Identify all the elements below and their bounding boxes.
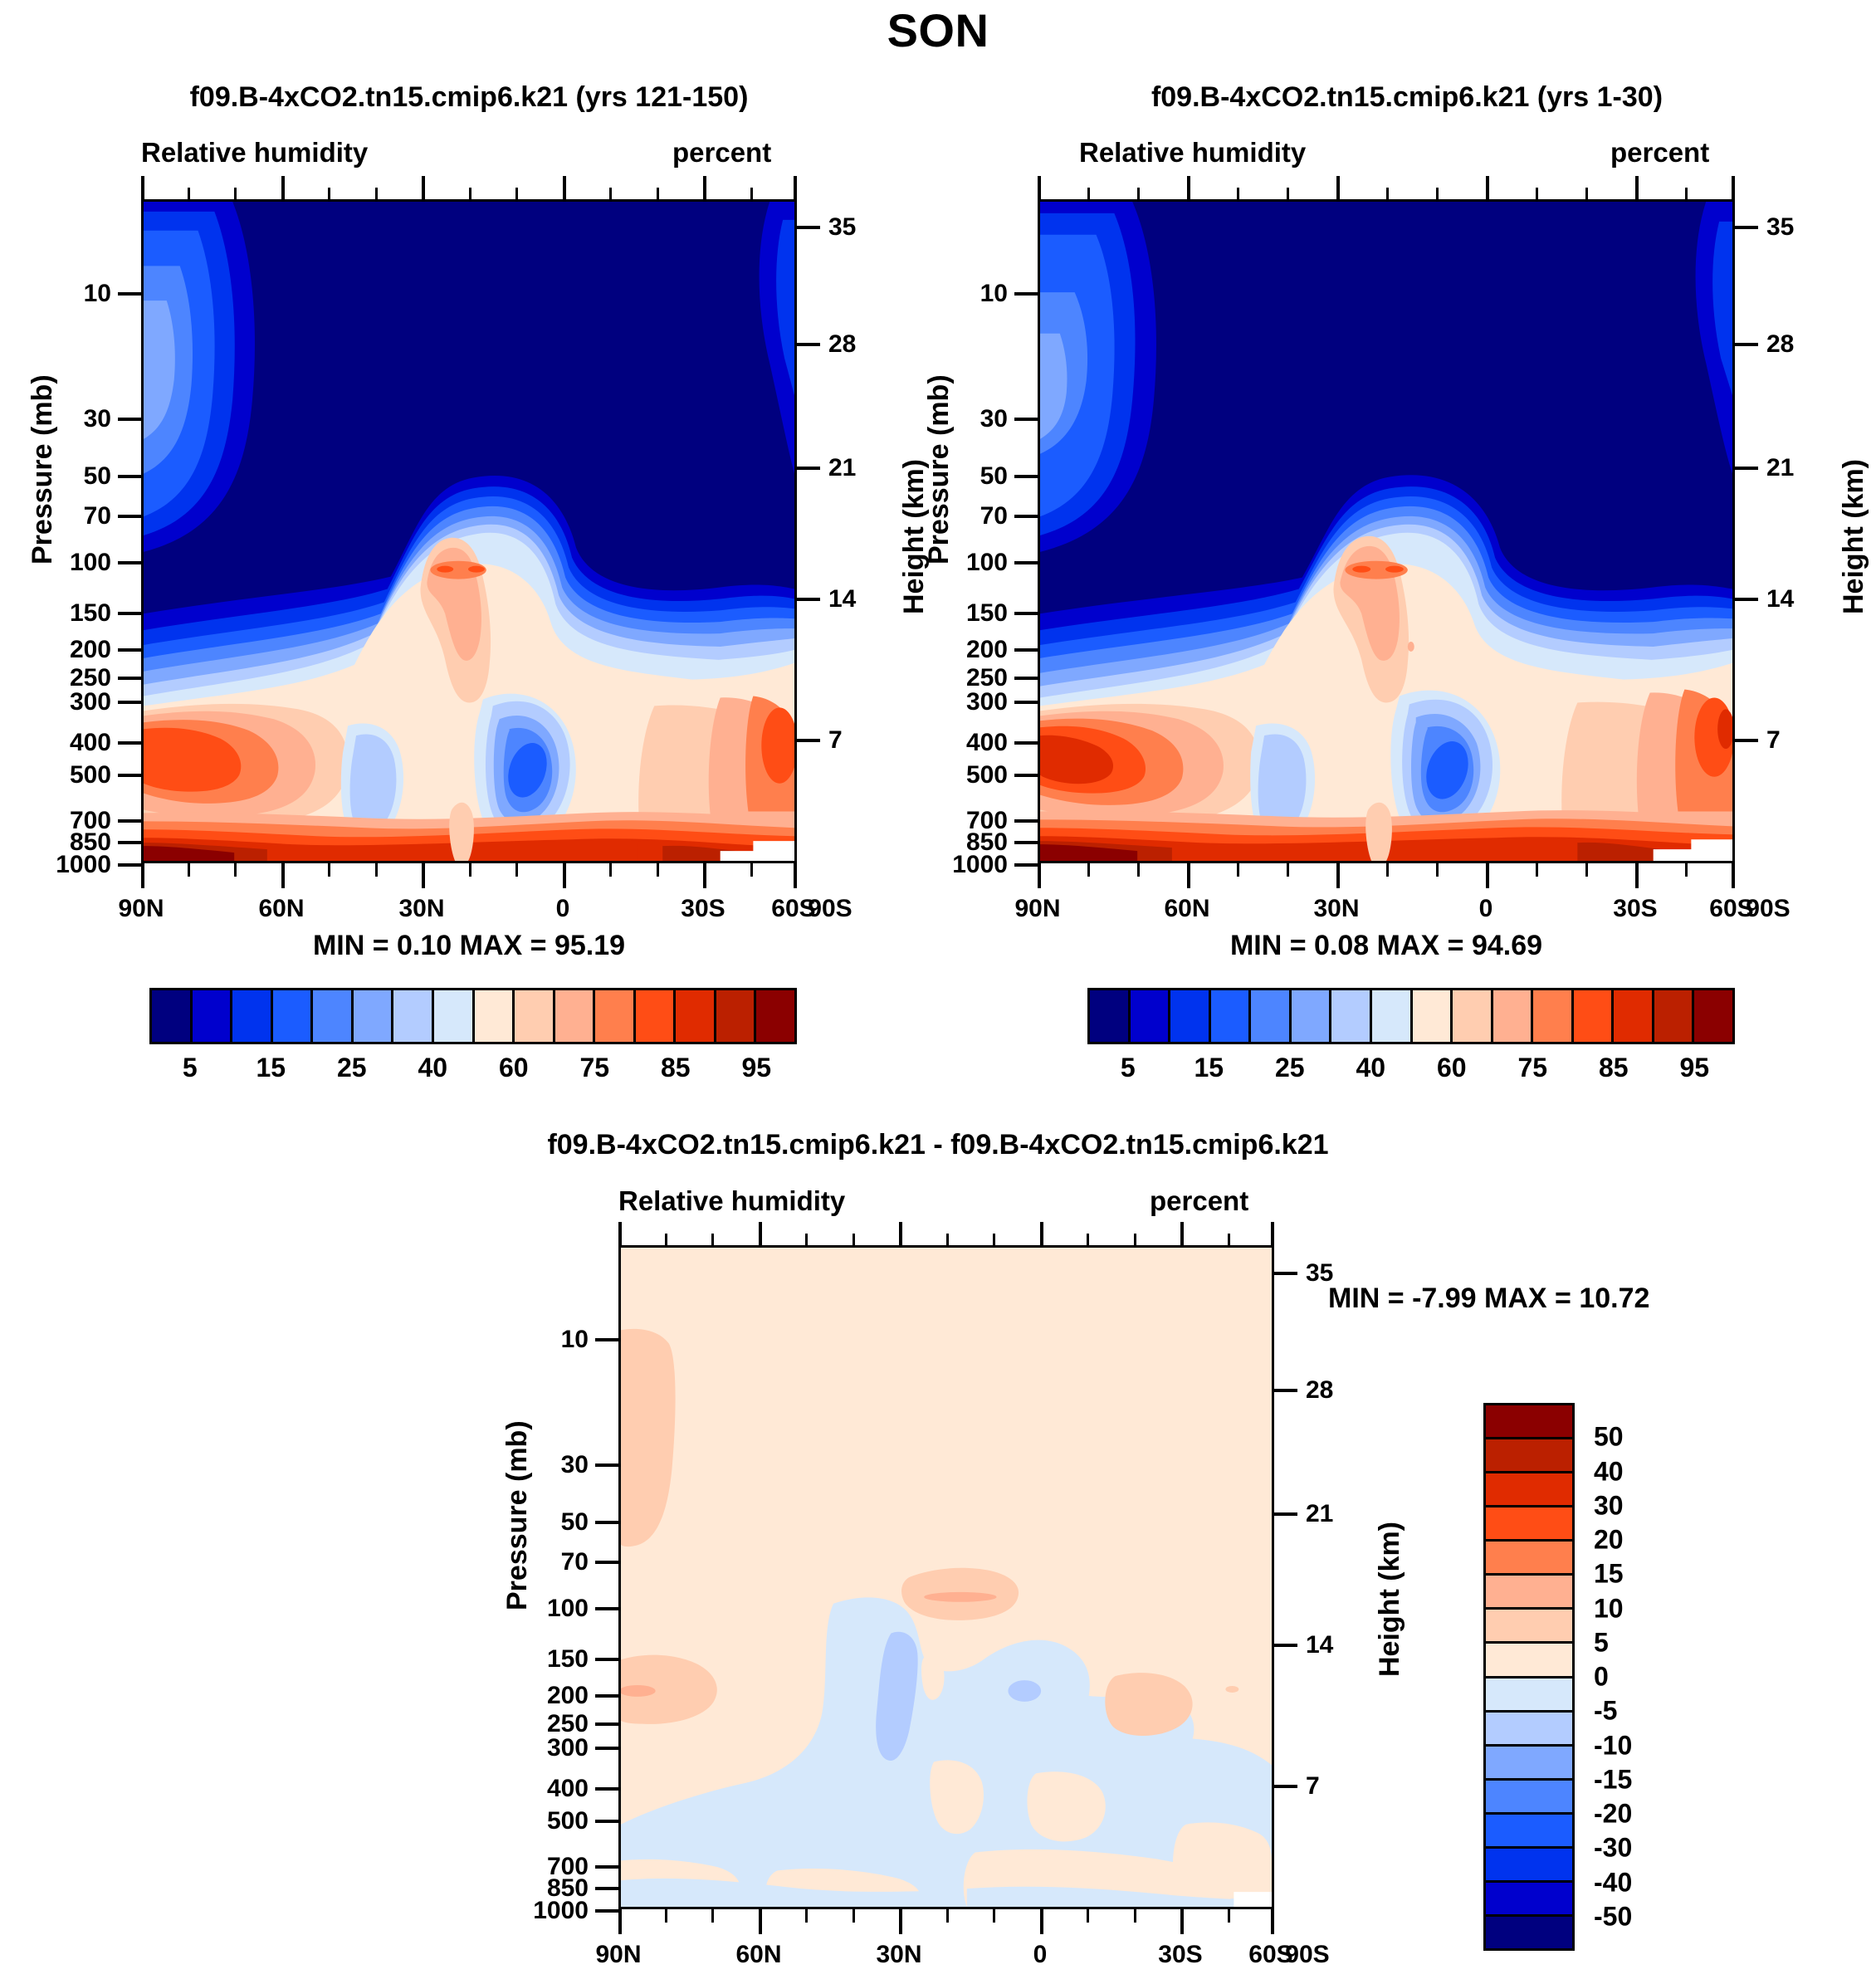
colorbar-tick-label: 40 [1594,1456,1624,1487]
tick-bottom-minor [234,863,237,877]
tick-pressure [118,292,141,296]
tick-top [1271,1222,1274,1245]
tick-pressure [1014,418,1038,421]
x-tick-label-30s: 30S [1602,895,1668,923]
panel-top-right-plot-area[interactable] [1038,199,1735,863]
tick-top-minor [469,188,471,199]
tick-pressure [118,701,141,704]
pressure-label-200: 200 [930,636,1008,664]
tick-top [703,176,706,199]
panel-difference-minmax: MIN = -7.99 MAX = 10.72 [1328,1283,1843,1315]
panel-difference-y2-axis-title: Height (km) [1374,1522,1406,1677]
colorbar-top-left[interactable] [149,988,797,1044]
height-label-21: 21 [1766,454,1833,482]
tick-bottom-minor [1137,863,1140,877]
x-tick-label-30n: 30N [388,895,455,923]
tick-pressure [1014,515,1038,518]
tick-top-minor [188,188,190,199]
pressure-label-300: 300 [930,688,1008,716]
panel-top-right-units-label: percent [1610,137,1709,169]
tick-height [1274,1785,1297,1788]
tick-pressure [1014,819,1038,823]
colorbar-swatch [475,990,515,1042]
colorbar-tick-label: 95 [741,1053,771,1083]
tick-pressure [118,648,141,652]
tick-bottom-minor [853,1909,855,1923]
height-label-35: 35 [828,213,895,242]
x-tick-label-90s: 90S [1735,895,1801,923]
tick-top [899,1222,902,1245]
tick-top-minor [946,1234,949,1245]
colorbar-tick-label: 75 [1517,1053,1547,1083]
panel-top-left-contour-field [144,202,794,861]
colorbar-swatch [1486,1576,1572,1610]
tick-pressure [595,1865,618,1869]
tick-pressure [118,741,141,745]
tick-top [1336,176,1340,199]
colorbar-tick-label: 60 [1437,1053,1467,1083]
colorbar-tick-label: 5 [183,1053,198,1083]
tick-bottom [281,863,285,888]
colorbar-swatch [1486,1815,1572,1849]
colorbar-swatch [716,990,757,1042]
colorbar-swatch [1453,990,1493,1042]
tick-height [1274,1272,1297,1275]
tick-top [1040,1222,1043,1245]
tick-bottom [1635,863,1639,888]
colorbar-swatch [1090,990,1131,1042]
pressure-label-200: 200 [511,1682,589,1710]
colorbar-swatch [1131,990,1171,1042]
colorbar-swatch [1486,1473,1572,1507]
colorbar-tick-label: 5 [1594,1627,1609,1658]
tick-pressure [1014,701,1038,704]
tick-top-minor [1287,188,1289,199]
tick-pressure [595,1722,618,1726]
tick-height [797,598,820,601]
colorbar-swatch [515,990,555,1042]
colorbar-swatch [1486,1439,1572,1473]
tick-top-minor [1228,1234,1230,1245]
tick-top [1038,176,1041,199]
tick-bottom [1336,863,1340,888]
tick-top-minor [609,188,612,199]
pressure-label-300: 300 [511,1734,589,1762]
colorbar-tick-label: 15 [1194,1053,1224,1083]
tick-bottom-minor [469,863,471,877]
tick-top-minor [1237,188,1239,199]
tick-height [1735,226,1758,229]
x-tick-label-0: 0 [1453,895,1519,923]
colorbar-tick-label: -5 [1594,1696,1617,1727]
tick-pressure [595,1658,618,1661]
panel-top-left-plot-area[interactable] [141,199,797,863]
tick-top-minor [665,1234,667,1245]
tick-top [794,176,797,199]
tick-top-minor [993,1234,995,1245]
colorbar-tick-label: -10 [1594,1730,1632,1761]
pressure-label-10: 10 [511,1326,589,1354]
tick-bottom [141,863,144,888]
colorbar-swatch [1486,1883,1572,1917]
panel-top-left-units-label: percent [672,137,771,169]
tick-pressure [118,774,141,777]
tick-height [797,739,820,742]
tick-bottom [422,863,425,888]
tick-top-minor [1536,188,1538,199]
tick-top [141,176,144,199]
colorbar-swatch [393,990,434,1042]
tick-height [797,226,820,229]
tick-pressure [118,612,141,615]
tick-top [1180,1222,1184,1245]
colorbar-swatch [636,990,677,1042]
tick-bottom-minor [1436,863,1439,877]
tick-bottom-minor [665,1909,667,1923]
x-tick-label-30s: 30S [670,895,736,923]
x-tick-label-60n: 60N [248,895,315,923]
colorbar-swatch [434,990,475,1042]
pressure-label-500: 500 [930,761,1008,789]
colorbar-top-left-labels: 515254060758595 [149,1053,797,1089]
height-label-7: 7 [1766,726,1833,755]
tick-top [281,176,285,199]
x-tick-label-60n: 60N [1154,895,1220,923]
tick-pressure [1014,677,1038,680]
pressure-label-1000: 1000 [17,851,111,879]
tick-bottom [1040,1909,1043,1934]
pressure-label-10: 10 [33,280,111,308]
panel-top-right-title: f09.B-4xCO2.tn15.cmip6.k21 (yrs 1-30) [938,81,1876,114]
panel-difference-title: f09.B-4xCO2.tn15.cmip6.k21 - f09.B-4xCO2… [0,1129,1876,1161]
tick-bottom [1486,863,1489,888]
height-label-28: 28 [1766,330,1833,359]
pressure-label-150: 150 [930,599,1008,628]
colorbar-swatch [1486,1678,1572,1713]
x-tick-label-90n: 90N [108,895,174,923]
panel-top-left-y-axis-title: Pressure (mb) [27,374,59,564]
panel-difference-y-axis-title: Pressure (mb) [501,1420,534,1610]
tick-height [1274,1512,1297,1516]
panel-top-right-minmax: MIN = 0.08 MAX = 94.69 [1038,930,1735,962]
tick-pressure [1014,648,1038,652]
tick-top-minor [328,188,330,199]
colorbar-tick-label: 75 [579,1053,609,1083]
tick-top-minor [750,188,753,199]
colorbar-swatch [595,990,636,1042]
tick-top-minor [805,1234,808,1245]
tick-top [1187,176,1190,199]
tick-pressure [118,863,141,867]
colorbar-tick-label: 30 [1594,1490,1624,1521]
colorbar-swatch [1251,990,1292,1042]
tick-pressure [1014,774,1038,777]
tick-bottom [1180,1909,1184,1934]
tick-pressure [595,1820,618,1823]
colorbar-tick-label: 5 [1121,1053,1136,1083]
tick-height [1735,598,1758,601]
tick-bottom-minor [1087,1909,1089,1923]
tick-bottom-minor [993,1909,995,1923]
tick-height [797,343,820,346]
pressure-label-1000: 1000 [494,1897,589,1925]
colorbar-tick-label: -30 [1594,1833,1632,1864]
tick-top-minor [1685,188,1688,199]
figure-main-title: SON [0,3,1876,57]
colorbar-swatch [1486,1917,1572,1948]
colorbar-swatch [1654,990,1695,1042]
tick-pressure [595,1561,618,1564]
pressure-label-500: 500 [33,761,111,789]
tick-bottom-minor [711,1909,714,1923]
height-label-14: 14 [1766,585,1833,613]
panel-top-left-variable-label: Relative humidity [141,137,368,169]
height-label-7: 7 [828,726,895,755]
colorbar-swatch [1413,990,1453,1042]
x-tick-label-90s: 90S [797,895,863,923]
x-tick-label-30n: 30N [866,1941,932,1969]
tick-bottom [618,1909,622,1934]
pressure-label-200: 200 [33,636,111,664]
tick-pressure [595,1887,618,1890]
tick-top-minor [515,188,518,199]
colorbar-swatch [273,990,314,1042]
panel-top-left-title: f09.B-4xCO2.tn15.cmip6.k21 (yrs 121-150) [0,81,938,114]
height-label-28: 28 [828,330,895,359]
tick-bottom [563,863,566,888]
tick-top-minor [657,188,659,199]
tick-height [1735,739,1758,742]
tick-pressure [595,1694,618,1698]
tick-top [618,1222,622,1245]
colorbar-swatch [1486,1507,1572,1542]
tick-bottom [1271,1909,1274,1934]
height-label-7: 7 [1306,1772,1372,1801]
colorbar-tick-label: 40 [418,1053,447,1083]
colorbar-swatch [1486,1713,1572,1747]
tick-bottom-minor [750,863,753,877]
colorbar-swatch [676,990,716,1042]
x-tick-label-30n: 30N [1303,895,1370,923]
x-tick-label-30s: 30S [1147,1941,1214,1969]
tick-bottom-minor [1134,1909,1136,1923]
tick-bottom-minor [188,863,190,877]
tick-top-minor [1134,1234,1136,1245]
height-label-21: 21 [1306,1500,1372,1528]
colorbar-tick-label: 25 [337,1053,367,1083]
tick-pressure [1014,612,1038,615]
x-tick-label-90s: 90S [1274,1941,1341,1969]
pressure-label-400: 400 [511,1775,589,1803]
colorbar-tick-label: 15 [256,1053,286,1083]
colorbar-swatch [1486,1610,1572,1644]
colorbar-swatch [1486,1781,1572,1815]
tick-pressure [1014,561,1038,564]
tick-top [759,1222,762,1245]
colorbar-swatch [1331,990,1372,1042]
tick-top [1635,176,1639,199]
tick-height [1274,1644,1297,1647]
tick-pressure [118,475,141,478]
colorbar-swatch [1493,990,1534,1042]
tick-pressure [595,1747,618,1750]
colorbar-tick-label: 85 [661,1053,691,1083]
colorbar-swatch [1694,990,1732,1042]
tick-bottom-minor [946,1909,949,1923]
colorbar-top-right[interactable] [1087,988,1735,1044]
pressure-label-400: 400 [33,729,111,757]
pressure-label-500: 500 [511,1807,589,1835]
tick-bottom-minor [1685,863,1688,877]
colorbar-tick-label: 85 [1599,1053,1629,1083]
height-label-14: 14 [1306,1631,1372,1659]
tick-top-minor [375,188,378,199]
tick-top [1732,176,1735,199]
tick-top [1486,176,1489,199]
tick-top-minor [234,188,237,199]
colorbar-tick-label: 0 [1594,1662,1609,1693]
colorbar-swatch [555,990,596,1042]
tick-bottom [703,863,706,888]
panel-difference-variable-label: Relative humidity [618,1185,845,1217]
colorbar-swatch [1486,1542,1572,1576]
tick-top [563,176,566,199]
colorbar-tick-label: 10 [1594,1593,1624,1624]
colorbar-tick-label: -20 [1594,1799,1632,1830]
colorbar-swatch [1614,990,1654,1042]
colorbar-swatch [1372,990,1413,1042]
colorbar-tick-label: 60 [499,1053,529,1083]
panel-top-right-y-axis-title: Pressure (mb) [923,374,955,564]
colorbar-swatch [313,990,354,1042]
tick-pressure [595,1463,618,1467]
tick-bottom-minor [1585,863,1588,877]
colorbar-difference-labels: 50403020151050-5-10-15-20-30-40-50 [1594,1403,1718,1951]
tick-bottom-minor [805,1909,808,1923]
panel-top-right-contour-field [1040,202,1732,861]
tick-pressure [118,515,141,518]
colorbar-swatch [1574,990,1615,1042]
colorbar-tick-label: 15 [1594,1559,1624,1590]
x-tick-label-0: 0 [1007,1941,1073,1969]
tick-bottom [899,1909,902,1934]
tick-pressure [595,1521,618,1524]
colorbar-tick-label: 25 [1275,1053,1305,1083]
height-label-14: 14 [828,585,895,613]
colorbar-swatch [1486,1849,1572,1883]
pressure-label-1000: 1000 [913,851,1008,879]
tick-pressure [118,819,141,823]
tick-bottom [1187,863,1190,888]
x-tick-label-0: 0 [530,895,596,923]
tick-top-minor [1436,188,1439,199]
tick-pressure [595,1607,618,1610]
tick-pressure [1014,841,1038,844]
tick-top-minor [711,1234,714,1245]
panel-difference-plot-area[interactable] [618,1245,1274,1909]
tick-pressure [1014,741,1038,745]
tick-height [1274,1389,1297,1392]
tick-bottom-minor [1287,863,1289,877]
tick-top [422,176,425,199]
colorbar-difference[interactable] [1483,1403,1575,1951]
colorbar-tick-label: 50 [1594,1422,1624,1453]
tick-bottom-minor [609,863,612,877]
tick-bottom-minor [515,863,518,877]
tick-bottom-minor [328,863,330,877]
colorbar-swatch [1292,990,1332,1042]
pressure-label-150: 150 [33,599,111,628]
tick-pressure [1014,292,1038,296]
colorbar-tick-label: -40 [1594,1867,1632,1898]
panel-difference-units-label: percent [1150,1185,1248,1217]
x-tick-label-60n: 60N [725,1941,792,1969]
colorbar-swatch [193,990,233,1042]
colorbar-tick-label: 95 [1679,1053,1709,1083]
colorbar-swatch [756,990,794,1042]
colorbar-tick-label: 40 [1356,1053,1385,1083]
panel-difference-contour-field [621,1248,1272,1907]
colorbar-swatch [232,990,273,1042]
tick-bottom [794,863,797,888]
tick-bottom-minor [1386,863,1389,877]
colorbar-swatch [354,990,394,1042]
tick-pressure [118,841,141,844]
tick-height [1735,343,1758,346]
tick-top-minor [1585,188,1588,199]
pressure-label-300: 300 [33,688,111,716]
panel-top-right-y2-axis-title: Height (km) [1838,459,1870,614]
tick-bottom-minor [657,863,659,877]
colorbar-tick-label: 20 [1594,1525,1624,1556]
colorbar-swatch [1211,990,1252,1042]
tick-bottom-minor [1237,863,1239,877]
colorbar-swatch [1486,1644,1572,1678]
tick-pressure [118,418,141,421]
tick-pressure [595,1338,618,1341]
height-label-21: 21 [828,454,895,482]
tick-top-minor [1137,188,1140,199]
tick-top-minor [1386,188,1389,199]
x-tick-label-90n: 90N [1004,895,1071,923]
tick-top-minor [1087,1234,1089,1245]
pressure-label-150: 150 [511,1645,589,1674]
tick-height [1735,467,1758,470]
tick-bottom-minor [375,863,378,877]
colorbar-top-right-labels: 515254060758595 [1087,1053,1735,1089]
tick-bottom-minor [1087,863,1090,877]
panel-top-left-minmax: MIN = 0.10 MAX = 95.19 [141,930,797,962]
pressure-label-10: 10 [930,280,1008,308]
pressure-label-400: 400 [930,729,1008,757]
height-label-35: 35 [1766,213,1833,242]
tick-bottom [1732,863,1735,888]
tick-pressure [118,677,141,680]
height-label-28: 28 [1306,1376,1372,1405]
tick-bottom [1038,863,1041,888]
colorbar-tick-label: -50 [1594,1901,1632,1932]
colorbar-swatch [152,990,193,1042]
colorbar-swatch [1486,1405,1572,1439]
tick-height [797,467,820,470]
colorbar-swatch [1533,990,1574,1042]
tick-top-minor [1087,188,1090,199]
tick-pressure [118,561,141,564]
tick-bottom [759,1909,762,1934]
colorbar-swatch [1486,1747,1572,1781]
tick-pressure [1014,475,1038,478]
colorbar-swatch [1170,990,1211,1042]
